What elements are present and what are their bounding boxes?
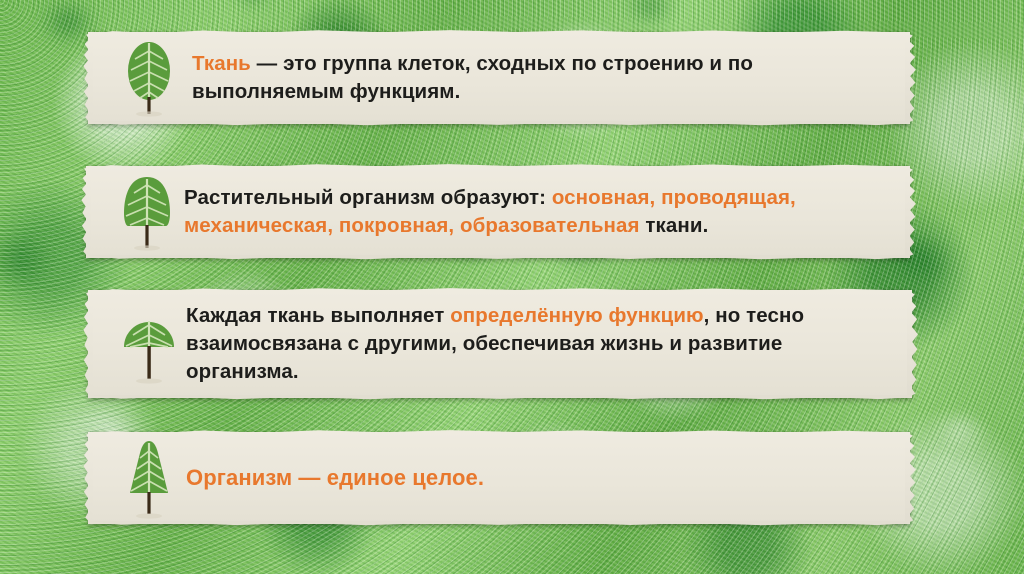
conical-leaf-tree-icon (112, 437, 186, 519)
oval-leaf-tree-icon (112, 39, 186, 117)
panel-2-lead: Растительный организм образуют: (184, 186, 552, 209)
panel-4-highlight: Организм — единое целое. (186, 465, 484, 490)
round-top-leaf-tree-icon (110, 173, 184, 251)
panel-1-body: — это группа клеток, сходных по строению… (192, 52, 753, 103)
panel-3-lead: Каждая ткань выполняет (186, 304, 450, 327)
slide-canvas: Ткань — это группа клеток, сходных по ст… (0, 0, 1024, 574)
panel-4-text: Организм — единое целое. (186, 463, 910, 493)
content-panel-1: Ткань — это группа клеток, сходных по ст… (88, 32, 910, 124)
content-panel-3: Каждая ткань выполняет определённую функ… (88, 290, 912, 398)
panel-1-highlight: Ткань (192, 52, 251, 75)
panel-2-tail: ткани. (640, 214, 709, 237)
panel-3-highlight: определённую функцию (450, 304, 703, 327)
panel-1-text: Ткань — это группа клеток, сходных по ст… (186, 50, 910, 105)
content-panel-4: Организм — единое целое. (88, 432, 910, 524)
panel-2-text: Растительный организм образуют: основная… (184, 184, 910, 239)
dome-leaf-tree-icon (112, 303, 186, 385)
panel-3-text: Каждая ткань выполняет определённую функ… (186, 302, 912, 385)
content-panel-2: Растительный организм образуют: основная… (86, 166, 910, 258)
